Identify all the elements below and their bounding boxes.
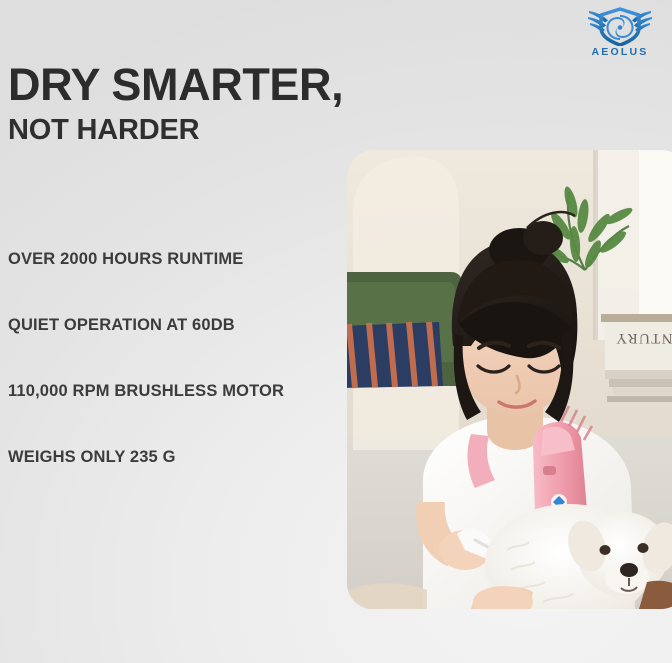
feature-item: OVER 2000 HOURS RUNTIME bbox=[8, 250, 343, 316]
photo-illustration: ENTURY bbox=[347, 150, 672, 609]
feature-list: OVER 2000 HOURS RUNTIME QUIET OPERATION … bbox=[8, 250, 343, 514]
feature-item: WEIGHS ONLY 235 G bbox=[8, 448, 343, 514]
promo-poster: AEOLUS DRY SMARTER, NOT HARDER OVER 2000… bbox=[0, 0, 672, 663]
brand-wordmark: AEOLUS bbox=[592, 47, 649, 58]
product-lifestyle-photo: ENTURY bbox=[347, 150, 672, 609]
feature-item: 110,000 RPM BRUSHLESS MOTOR bbox=[8, 382, 343, 448]
headline-block: DRY SMARTER, NOT HARDER bbox=[8, 62, 438, 145]
headline-secondary: NOT HARDER bbox=[8, 115, 438, 145]
brand-logo: AEOLUS bbox=[578, 6, 662, 62]
headline-primary: DRY SMARTER, bbox=[8, 62, 438, 107]
feature-item: QUIET OPERATION AT 60DB bbox=[8, 316, 343, 382]
winged-shield-vortex-icon bbox=[587, 6, 653, 46]
book-spine-text: ENTURY bbox=[615, 330, 672, 346]
